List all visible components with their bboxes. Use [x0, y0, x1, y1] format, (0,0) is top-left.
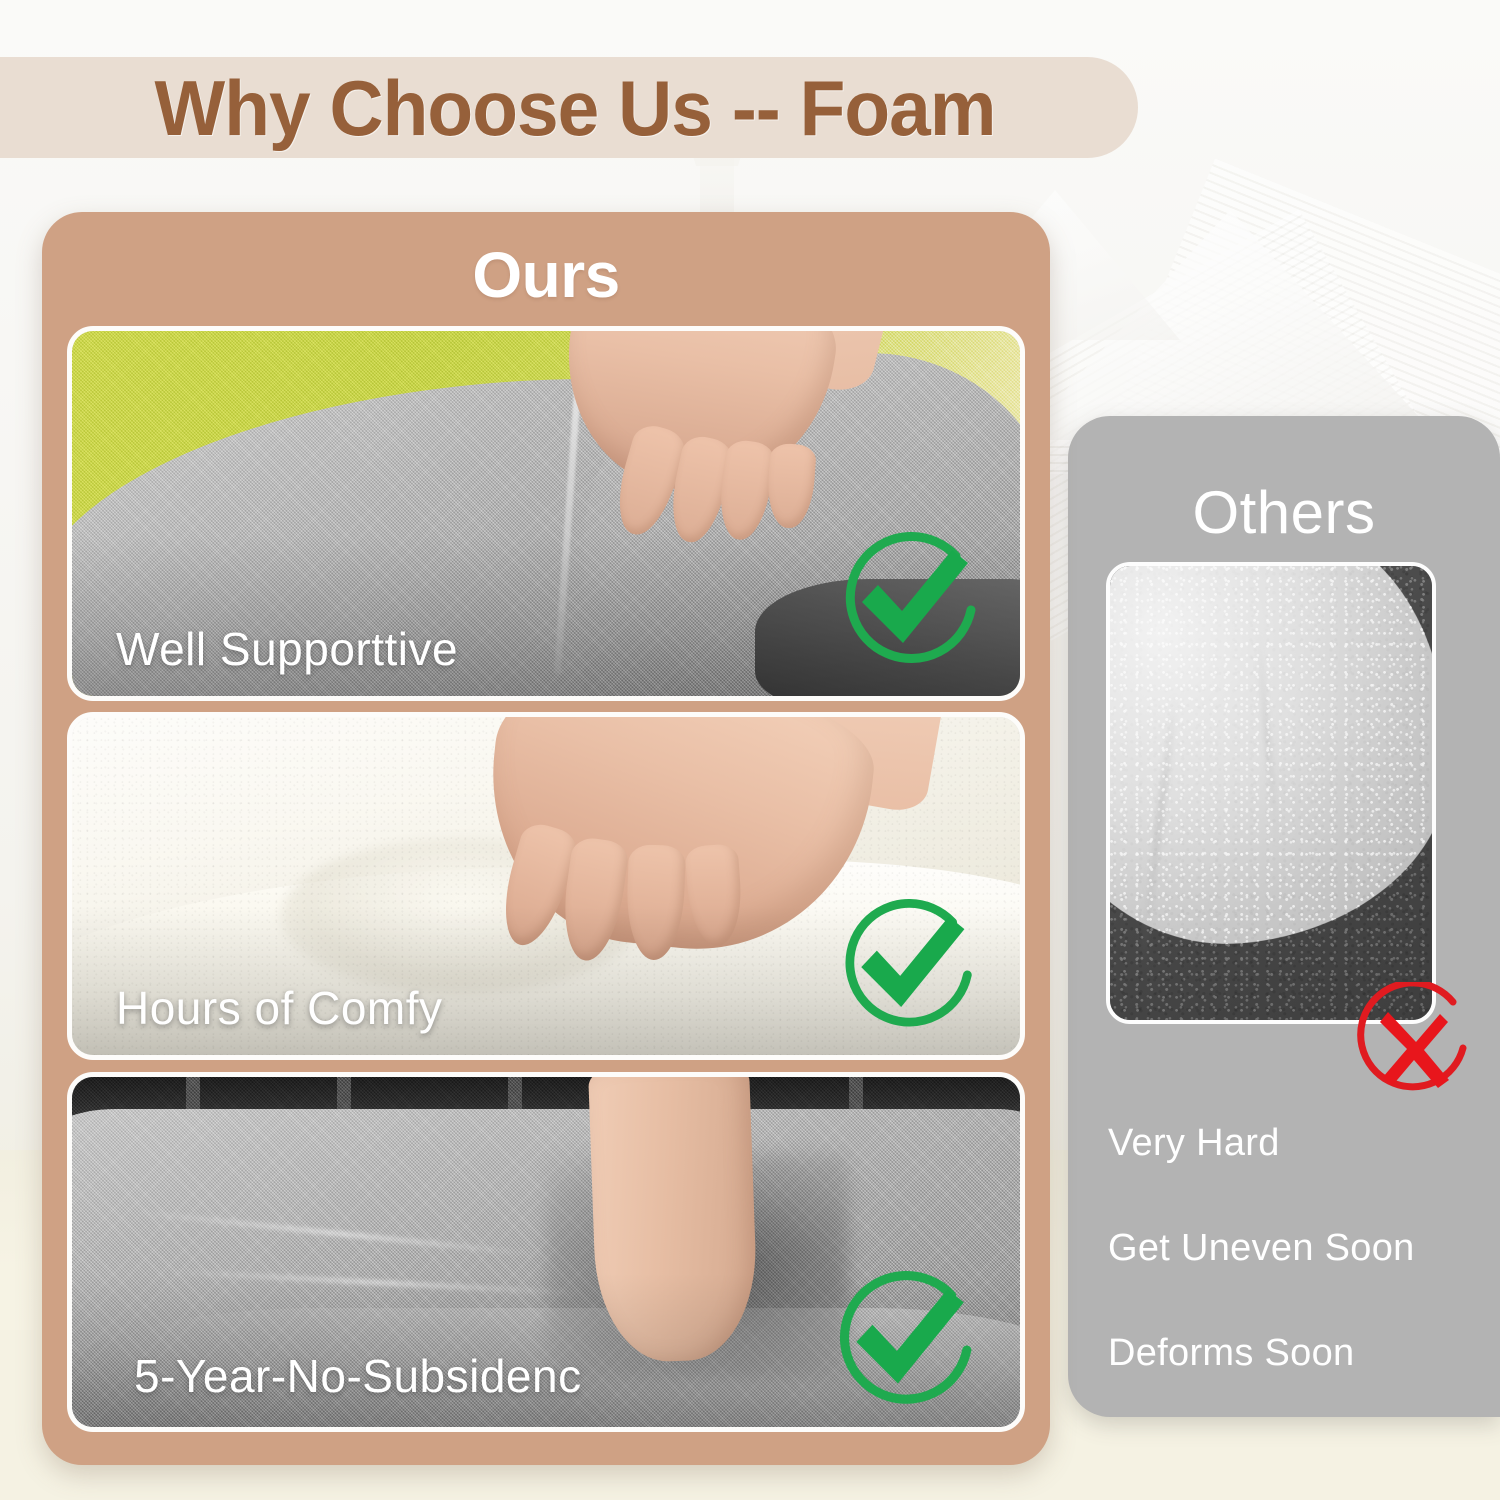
green-check-icon	[834, 532, 984, 682]
card-caption: Well Supporttive	[116, 622, 458, 676]
others-foam-photo	[1106, 562, 1436, 1024]
ours-feature-card: Hours of Comfy	[67, 712, 1025, 1060]
card-caption: Hours of Comfy	[116, 981, 443, 1035]
others-list-item: Deforms Soon	[1108, 1332, 1488, 1375]
ours-heading: Ours	[42, 238, 1050, 312]
ours-panel: Ours Well Supporttive	[42, 212, 1050, 1465]
others-heading: Others	[1068, 478, 1500, 547]
others-list-item: Very Hard	[1108, 1122, 1488, 1165]
others-drawback-list: Very Hard Get Uneven Soon Deforms Soon	[1108, 1122, 1488, 1437]
red-x-icon	[1350, 982, 1478, 1110]
card-caption: 5-Year-No-Subsidenc	[134, 1349, 582, 1403]
ours-feature-card: 5-Year-No-Subsidenc	[67, 1072, 1025, 1432]
ours-feature-card: Well Supporttive	[67, 326, 1025, 701]
others-panel: Others Very Hard Get Uneven Soon Deforms…	[1068, 416, 1500, 1417]
green-check-icon	[828, 1271, 980, 1423]
others-list-item: Get Uneven Soon	[1108, 1227, 1488, 1270]
green-check-icon	[834, 899, 980, 1045]
page-title: Why Choose Us -- Foam	[90, 62, 1060, 154]
